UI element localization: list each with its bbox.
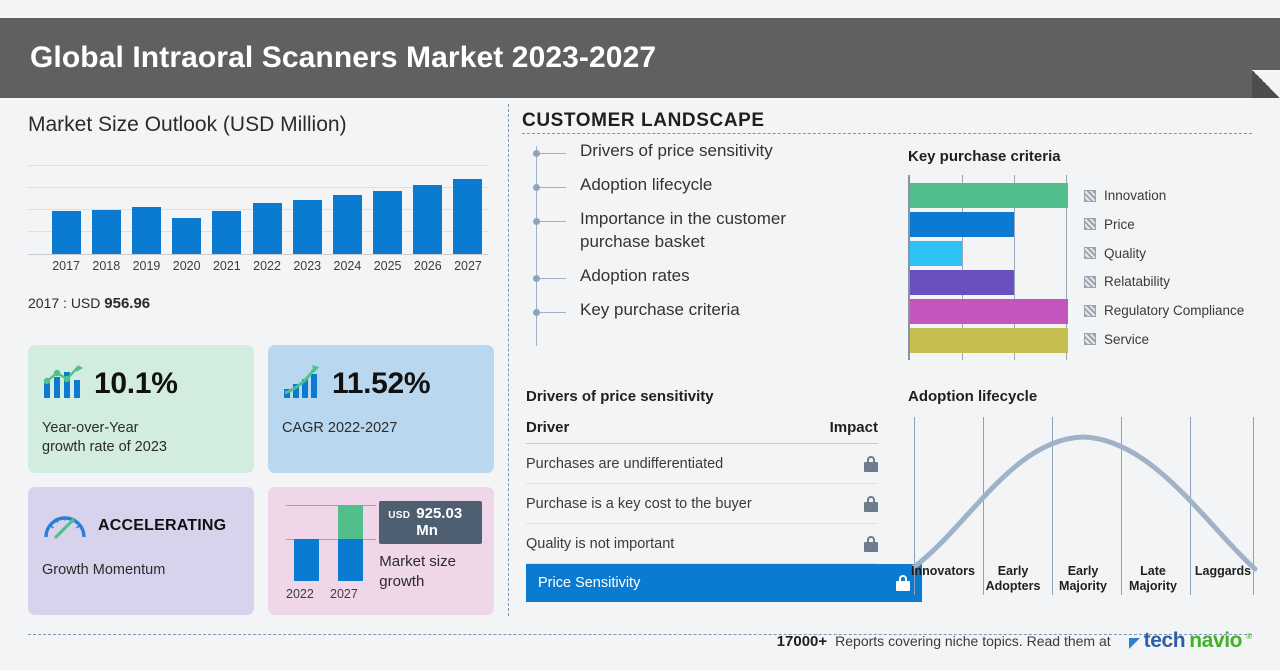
alc-stage-line1: Innovators xyxy=(908,564,978,578)
bar-label: 2021 xyxy=(207,259,247,273)
bar-axis-labels: 2017201820192020202120222023202420252026… xyxy=(46,259,488,273)
adoption-lifecycle-panel: Adoption lifecycle InnovatorsEarlyAdopte… xyxy=(908,388,1260,595)
alc-chart: InnovatorsEarlyAdoptersEarlyMajorityLate… xyxy=(908,417,1258,595)
kpc-bar xyxy=(910,270,1014,295)
cl-item-label: Importance in the customer purchase bask… xyxy=(580,208,830,254)
table-row[interactable]: Quality is not important xyxy=(526,524,878,564)
lock-icon xyxy=(864,536,878,552)
key-purchase-criteria-panel: Key purchase criteria InnovationPriceQua… xyxy=(908,148,1268,360)
hatch-swatch-icon xyxy=(1084,333,1096,345)
kpc-bars xyxy=(910,183,1068,353)
bar xyxy=(172,218,201,254)
kpc-legend: InnovationPriceQualityRelatabilityRegula… xyxy=(1084,175,1244,360)
kpi-top-row: 10.1% xyxy=(42,361,240,407)
customer-landscape-title: CUSTOMER LANDSCAPE xyxy=(522,110,765,132)
kpc-legend-label: Regulatory Compliance xyxy=(1104,303,1244,318)
alc-stage-label: EarlyMajority xyxy=(1048,564,1118,593)
technavio-logo[interactable]: technavio® xyxy=(1129,629,1252,653)
bar-label: 2018 xyxy=(86,259,126,273)
kpc-legend-item: Relatability xyxy=(1084,269,1244,294)
kpc-legend-item: Service xyxy=(1084,327,1244,352)
bullet-dot-icon xyxy=(533,275,540,282)
mini-x-label: 2027 xyxy=(330,587,358,601)
page-header: Global Intraoral Scanners Market 2023-20… xyxy=(0,18,1280,98)
market-growth-value-badge: USD 925.03 Mn xyxy=(379,501,482,544)
customer-landscape-underline xyxy=(522,133,1252,134)
note-prefix: 2017 : USD xyxy=(28,295,100,311)
kpi-top-row: ACCELERATING xyxy=(42,503,240,549)
mini-bar-2027 xyxy=(338,505,363,581)
corner-fold-decoration xyxy=(1252,70,1280,98)
currency-label: USD xyxy=(388,510,410,521)
bullet-dot-icon xyxy=(533,218,540,225)
driver-cell: Purchase is a key cost to the buyer xyxy=(526,496,752,512)
connector-line xyxy=(540,153,566,154)
kpc-bar xyxy=(910,212,1014,237)
kpi-label-line1: Year-over-Year xyxy=(42,419,240,438)
bar-slot xyxy=(167,165,207,254)
driver-cell-highlight: Price Sensitivity xyxy=(538,575,640,591)
market-size-panel: Market Size Outlook (USD Million) 201720… xyxy=(28,112,488,312)
kpc-legend-item: Quality xyxy=(1084,241,1244,266)
kpc-bar xyxy=(910,299,1068,324)
alc-stage-label: Innovators xyxy=(908,564,978,593)
kpc-title: Key purchase criteria xyxy=(908,148,1268,165)
hatch-swatch-icon xyxy=(1084,218,1096,230)
bar-series xyxy=(46,165,488,254)
footer-text: Reports covering niche topics. Read them… xyxy=(835,633,1110,649)
alc-stage-label: LateMajority xyxy=(1118,564,1188,593)
kpi-label-yoy: Year-over-Year growth rate of 2023 xyxy=(42,419,240,457)
caption-line2: growth xyxy=(379,572,482,592)
caption-line1: Market size xyxy=(379,552,482,572)
bar-label: 2017 xyxy=(46,259,86,273)
bar-slot xyxy=(46,165,86,254)
column-header-driver: Driver xyxy=(526,419,569,436)
alc-stage-line2: Majority xyxy=(1118,579,1188,593)
drivers-panel: Drivers of price sensitivity Driver Impa… xyxy=(526,388,878,602)
bar-slot xyxy=(448,165,488,254)
report-count: 17000+ xyxy=(777,633,827,650)
kpi-label-momentum: Growth Momentum xyxy=(42,561,240,580)
kpc-legend-item: Regulatory Compliance xyxy=(1084,298,1244,323)
connector-line xyxy=(540,187,566,188)
kpi-card-momentum: ACCELERATING Growth Momentum xyxy=(28,487,254,615)
bar xyxy=(453,179,482,255)
lock-icon xyxy=(864,456,878,472)
alc-stage-line1: Late xyxy=(1118,564,1188,578)
table-row[interactable]: Purchases are undifferentiated xyxy=(526,444,878,484)
note-value: 956.96 xyxy=(104,295,150,312)
logo-part2: navio xyxy=(1189,629,1242,653)
kpc-legend-item: Innovation xyxy=(1084,183,1244,208)
bar-slot xyxy=(368,165,408,254)
kpc-legend-label: Price xyxy=(1104,217,1135,232)
kpc-legend-label: Innovation xyxy=(1104,188,1166,203)
market-size-note: 2017 : USD 956.96 xyxy=(28,295,488,312)
bar-slot xyxy=(327,165,367,254)
bar xyxy=(373,191,402,254)
cl-item-label: Adoption lifecycle xyxy=(580,174,712,197)
hatch-swatch-icon xyxy=(1084,190,1096,202)
alc-stage-label: EarlyAdopters xyxy=(978,564,1048,593)
cl-item-adoption-rates[interactable]: Adoption rates xyxy=(536,265,876,288)
bar-label: 2026 xyxy=(408,259,448,273)
alc-stage-label: Laggards xyxy=(1188,564,1258,593)
column-header-impact: Impact xyxy=(830,419,878,436)
market-growth-value: 925.03 Mn xyxy=(416,505,473,539)
logo-trademark: ® xyxy=(1246,632,1252,641)
kpi-card-market-growth: 2022 2027 USD 925.03 Mn Market size grow… xyxy=(268,487,494,615)
cl-item-adoption-lifecycle[interactable]: Adoption lifecycle xyxy=(536,174,876,197)
cl-item-importance[interactable]: Importance in the customer purchase bask… xyxy=(536,208,876,254)
bar xyxy=(293,200,322,254)
kpi-card-yoy: 10.1% Year-over-Year growth rate of 2023 xyxy=(28,345,254,473)
hatch-swatch-icon xyxy=(1084,305,1096,317)
cl-item-label: Adoption rates xyxy=(580,265,690,288)
bar xyxy=(333,195,362,254)
bar-slot xyxy=(86,165,126,254)
kpi-value-momentum: ACCELERATING xyxy=(98,517,226,535)
bar-slot xyxy=(408,165,448,254)
connector-line xyxy=(540,312,566,313)
bar xyxy=(92,210,121,255)
vertical-divider xyxy=(508,104,509,616)
bar xyxy=(253,203,282,254)
kpc-bar xyxy=(910,241,962,266)
market-growth-content: 2022 2027 USD 925.03 Mn Market size grow… xyxy=(280,497,482,605)
kpi-card-cagr: 11.52% CAGR 2022-2027 xyxy=(268,345,494,473)
alc-stage-line1: Early xyxy=(978,564,1048,578)
bar-label: 2027 xyxy=(448,259,488,273)
alc-stage-line2: Majority xyxy=(1048,579,1118,593)
drivers-title: Drivers of price sensitivity xyxy=(526,388,878,405)
cl-item-label: Drivers of price sensitivity xyxy=(580,140,773,163)
cl-item-drivers[interactable]: Drivers of price sensitivity xyxy=(536,140,876,163)
page-footer: 17000+ Reports covering niche topics. Re… xyxy=(0,624,1280,658)
bar-slot xyxy=(247,165,287,254)
market-growth-caption: Market size growth xyxy=(379,552,482,591)
cl-item-key-purchase-criteria[interactable]: Key purchase criteria xyxy=(536,299,876,322)
alc-stage-labels: InnovatorsEarlyAdoptersEarlyMajorityLate… xyxy=(908,564,1258,593)
kpc-chart xyxy=(908,175,1068,360)
bar-label: 2024 xyxy=(327,259,367,273)
table-row[interactable]: Purchase is a key cost to the buyer xyxy=(526,484,878,524)
kpc-bar xyxy=(910,328,1068,353)
driver-cell: Quality is not important xyxy=(526,536,674,552)
technavio-mark-icon xyxy=(1129,638,1140,649)
lock-icon xyxy=(864,496,878,512)
alc-title: Adoption lifecycle xyxy=(908,388,1260,405)
table-row-highlighted[interactable]: Price Sensitivity xyxy=(526,564,922,602)
kpi-value-cagr: 11.52% xyxy=(332,367,430,401)
connector-line xyxy=(540,221,566,222)
driver-cell: Purchases are undifferentiated xyxy=(526,456,723,472)
bar-label: 2025 xyxy=(368,259,408,273)
cl-item-label: Key purchase criteria xyxy=(580,299,740,322)
kpi-value-yoy: 10.1% xyxy=(94,367,178,401)
market-size-title: Market Size Outlook (USD Million) xyxy=(28,112,488,137)
trend-up-icon xyxy=(282,363,322,406)
kpc-legend-label: Quality xyxy=(1104,246,1146,261)
speedometer-icon xyxy=(42,507,88,546)
chart-baseline xyxy=(28,254,488,255)
kpc-legend-label: Service xyxy=(1104,332,1149,347)
kpi-label-cagr: CAGR 2022-2027 xyxy=(282,419,480,438)
infographic-page: Global Intraoral Scanners Market 2023-20… xyxy=(0,0,1280,670)
alc-stage-line1: Early xyxy=(1048,564,1118,578)
mini-bar-2022 xyxy=(294,539,319,581)
bar-label: 2022 xyxy=(247,259,287,273)
kpi-label-line2: growth rate of 2023 xyxy=(42,438,240,457)
kpc-legend-label: Relatability xyxy=(1104,274,1170,289)
alc-stage-line1: Laggards xyxy=(1188,564,1258,578)
connector-line xyxy=(540,278,566,279)
market-growth-mini-chart: 2022 2027 xyxy=(280,497,367,601)
kpc-legend-item: Price xyxy=(1084,212,1244,237)
kpc-body: InnovationPriceQualityRelatabilityRegula… xyxy=(908,175,1268,360)
bar-slot xyxy=(287,165,327,254)
hatch-swatch-icon xyxy=(1084,247,1096,259)
logo-part1: tech xyxy=(1144,629,1186,653)
bar xyxy=(413,185,442,254)
alc-stage-line2: Adopters xyxy=(978,579,1048,593)
bar xyxy=(212,211,241,255)
kpi-top-row: 11.52% xyxy=(282,361,480,407)
market-size-bar-chart xyxy=(28,165,488,255)
bullet-dot-icon xyxy=(533,150,540,157)
bar-slot xyxy=(126,165,166,254)
bar-label: 2019 xyxy=(126,259,166,273)
drivers-table-header: Driver Impact xyxy=(526,419,878,444)
bar-slot xyxy=(207,165,247,254)
bar-chart-up-icon xyxy=(42,363,84,406)
bar-label: 2023 xyxy=(287,259,327,273)
bar-label: 2020 xyxy=(167,259,207,273)
page-title: Global Intraoral Scanners Market 2023-20… xyxy=(30,41,656,75)
bar xyxy=(132,207,161,254)
kpi-cards: 10.1% Year-over-Year growth rate of 2023 xyxy=(28,345,495,615)
market-growth-text: USD 925.03 Mn Market size growth xyxy=(379,497,482,605)
bullet-dot-icon xyxy=(533,184,540,191)
kpc-bar xyxy=(910,183,1068,208)
bullet-dot-icon xyxy=(533,309,540,316)
hatch-swatch-icon xyxy=(1084,276,1096,288)
mini-x-label: 2022 xyxy=(286,587,314,601)
bar xyxy=(52,211,81,254)
customer-landscape-list: Drivers of price sensitivity Adoption li… xyxy=(536,140,876,333)
